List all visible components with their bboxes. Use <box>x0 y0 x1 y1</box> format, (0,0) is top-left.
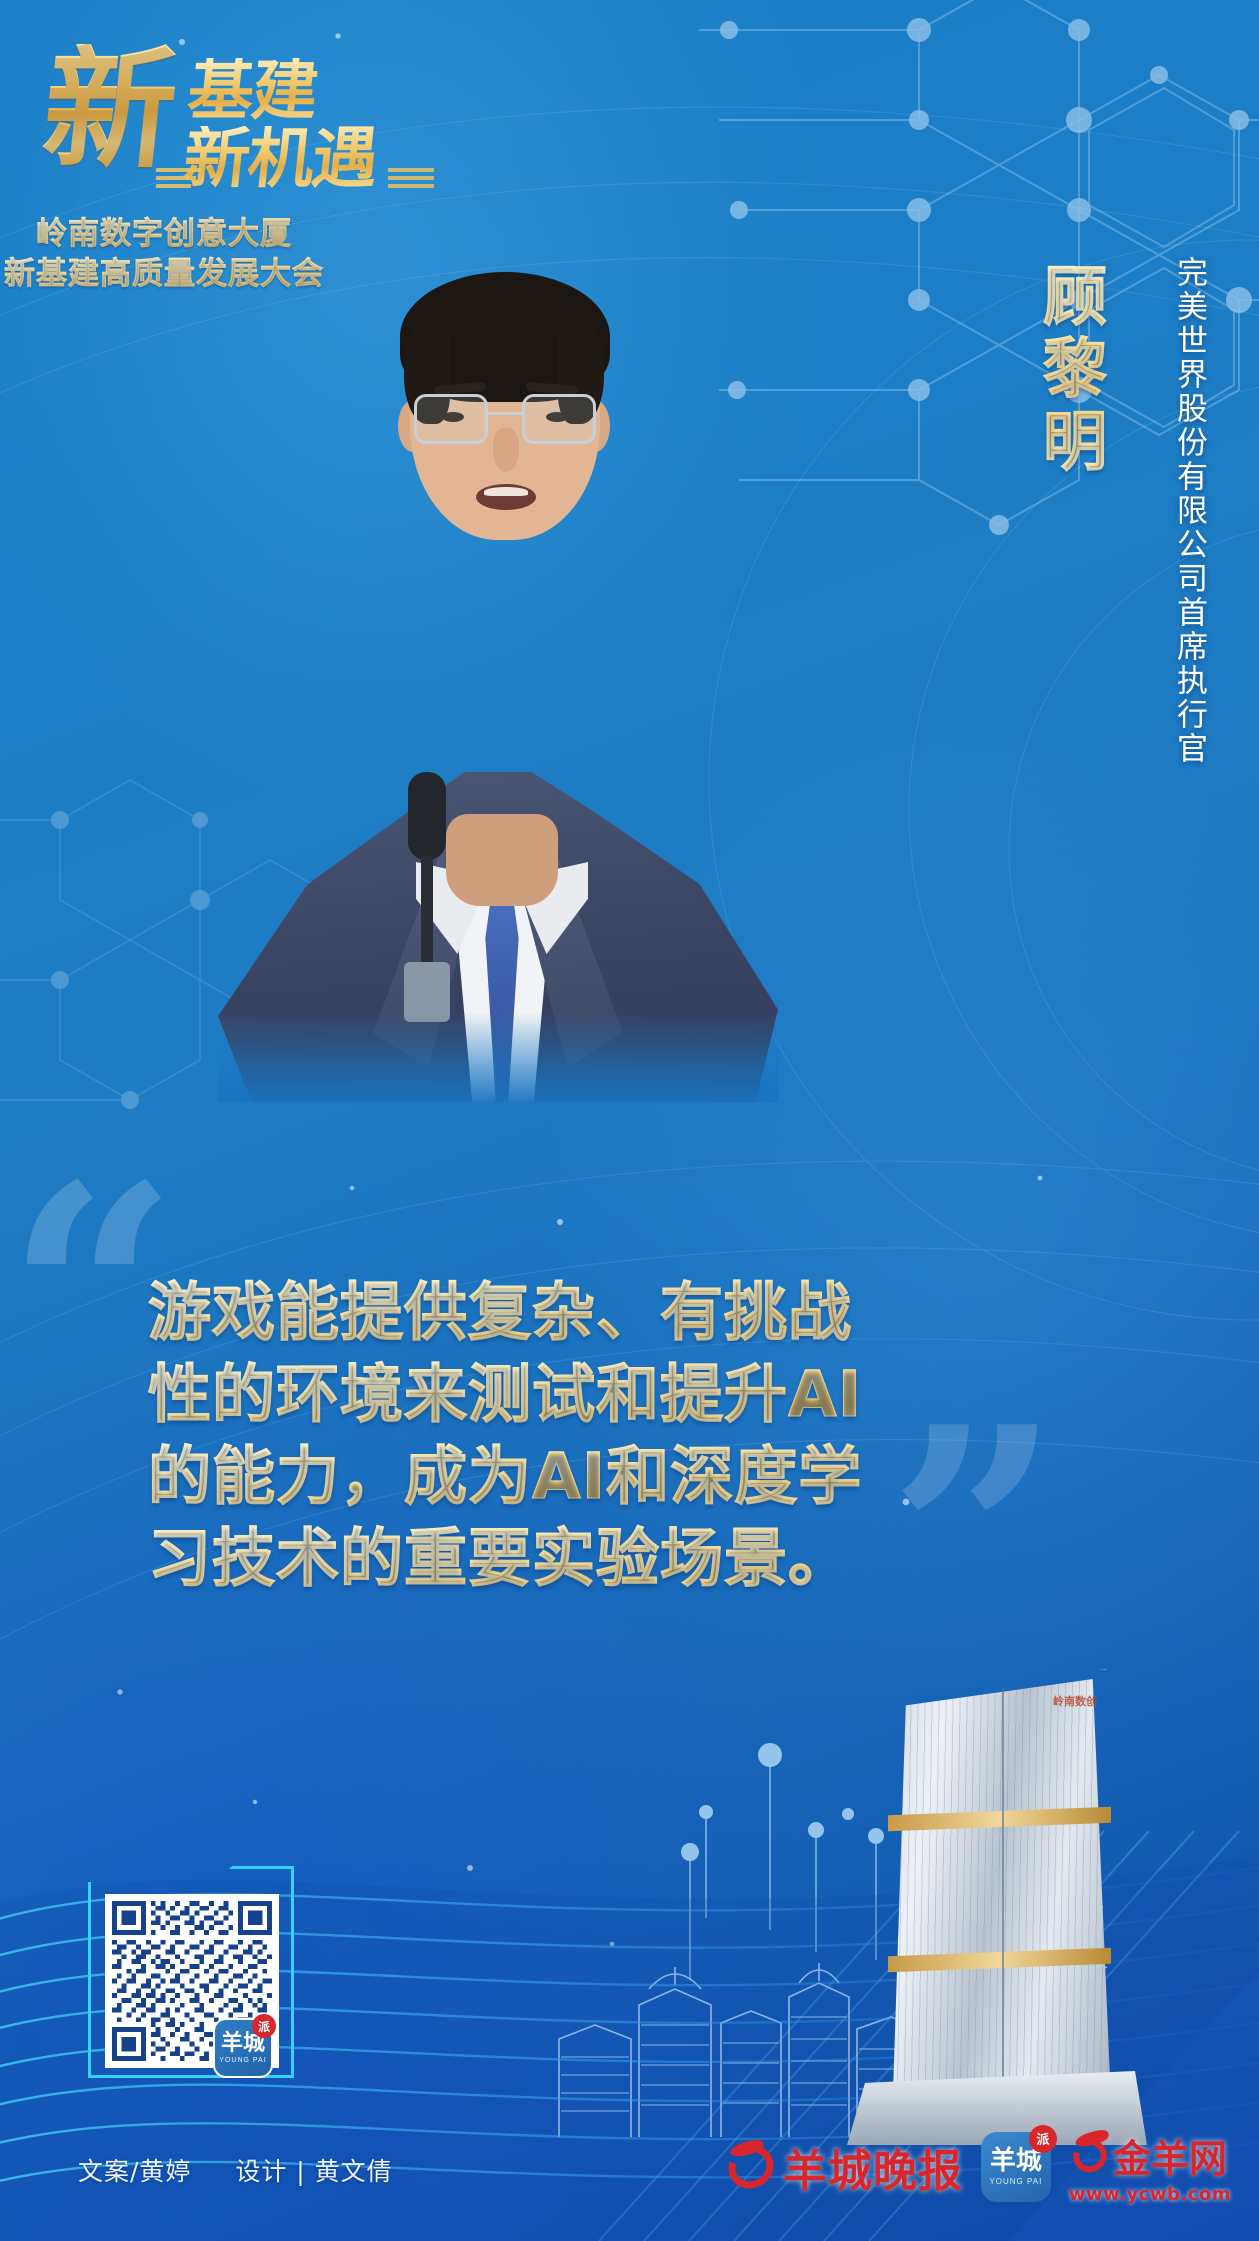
quote-line: 性的环境来测试和提升AI <box>148 1354 888 1436</box>
portrait-mouth <box>476 484 536 510</box>
portrait-nose <box>493 428 519 472</box>
kv-main-character: 新 <box>37 44 183 176</box>
ycwb-newspaper-logo[interactable]: 羊城晚报 <box>728 2135 963 2199</box>
quote-close-mark: ” <box>888 1430 1061 1646</box>
building-outline-glow <box>869 1669 1127 2129</box>
kv-line-a: 基建 <box>185 58 320 124</box>
qr-code-block[interactable]: 羊城 YOUNG PAI 派 <box>88 1866 294 2078</box>
speaker-portrait-photo <box>218 232 778 1102</box>
speaker-role-title: 完美世界股份有限公司首席执行官 <box>1155 256 1207 766</box>
credits-line: 文案/黄婷 设计 | 黄文倩 <box>78 2152 393 2188</box>
qr-badge-corner: 派 <box>252 2014 276 2038</box>
ycwb-logo-text: 羊城晚报 <box>783 2135 963 2199</box>
speaker-name-block: 顾黎明 <box>1021 262 1131 479</box>
kv-decorative-dashes <box>388 168 434 192</box>
jinyangwang-website-logo[interactable]: 金羊网 www.ycwb.com <box>1069 2128 1231 2205</box>
quote-line: 游戏能提供复杂、有挑战 <box>148 1272 888 1354</box>
portrait-neck <box>446 814 558 906</box>
quote-line: 习技术的重要实验场景。 <box>148 1518 888 1600</box>
key-visual-title: 新 基建 新机遇 <box>36 48 466 198</box>
qr-center-app-badge: 羊城 YOUNG PAI 派 <box>213 2018 273 2078</box>
ycwb-swoosh-icon <box>721 2137 781 2196</box>
yangchengpai-app-logo[interactable]: 羊城 YOUNG PAI 派 <box>981 2132 1051 2202</box>
kv-line-b: 新机遇 <box>181 126 380 192</box>
app-logo-pinyin: YOUNG PAI <box>989 2177 1042 2186</box>
jyw-swoosh-icon <box>1067 2133 1112 2177</box>
app-logo-corner-badge: 派 <box>1029 2125 1057 2153</box>
quote-text-block: 游戏能提供复杂、有挑战 性的环境来测试和提升AI 的能力，成为AI和深度学 习技… <box>148 1272 888 1600</box>
jyw-logo-text: 金羊网 <box>1113 2128 1227 2183</box>
kv-decorative-bars <box>156 168 202 192</box>
brand-logo-row: 羊城晚报 羊城 YOUNG PAI 派 金羊网 www.ycwb.com <box>728 2128 1231 2205</box>
credit-copywriter: 文案/黄婷 <box>78 2157 191 2186</box>
lingnan-digital-tower-illustration: 岭南数创 <box>883 1679 1111 2119</box>
qr-badge-pinyin: YOUNG PAI <box>219 2057 266 2064</box>
qr-code-image[interactable]: 羊城 YOUNG PAI 派 <box>105 1894 279 2068</box>
quote-line: 的能力，成为AI和深度学 <box>148 1436 888 1518</box>
app-logo-text: 羊城 <box>990 2148 1042 2174</box>
speaker-name: 顾黎明 <box>1021 262 1131 479</box>
credit-designer: 设计 | 黄文倩 <box>235 2157 392 2186</box>
poster-root: 新 基建 新机遇 岭南数字创意大厦 新基建高质量发展大会 <box>0 0 1259 2241</box>
jyw-website-url: www.ycwb.com <box>1069 2184 1231 2205</box>
microphone-icon <box>414 772 440 1022</box>
portrait-bottom-fade <box>218 1012 778 1102</box>
